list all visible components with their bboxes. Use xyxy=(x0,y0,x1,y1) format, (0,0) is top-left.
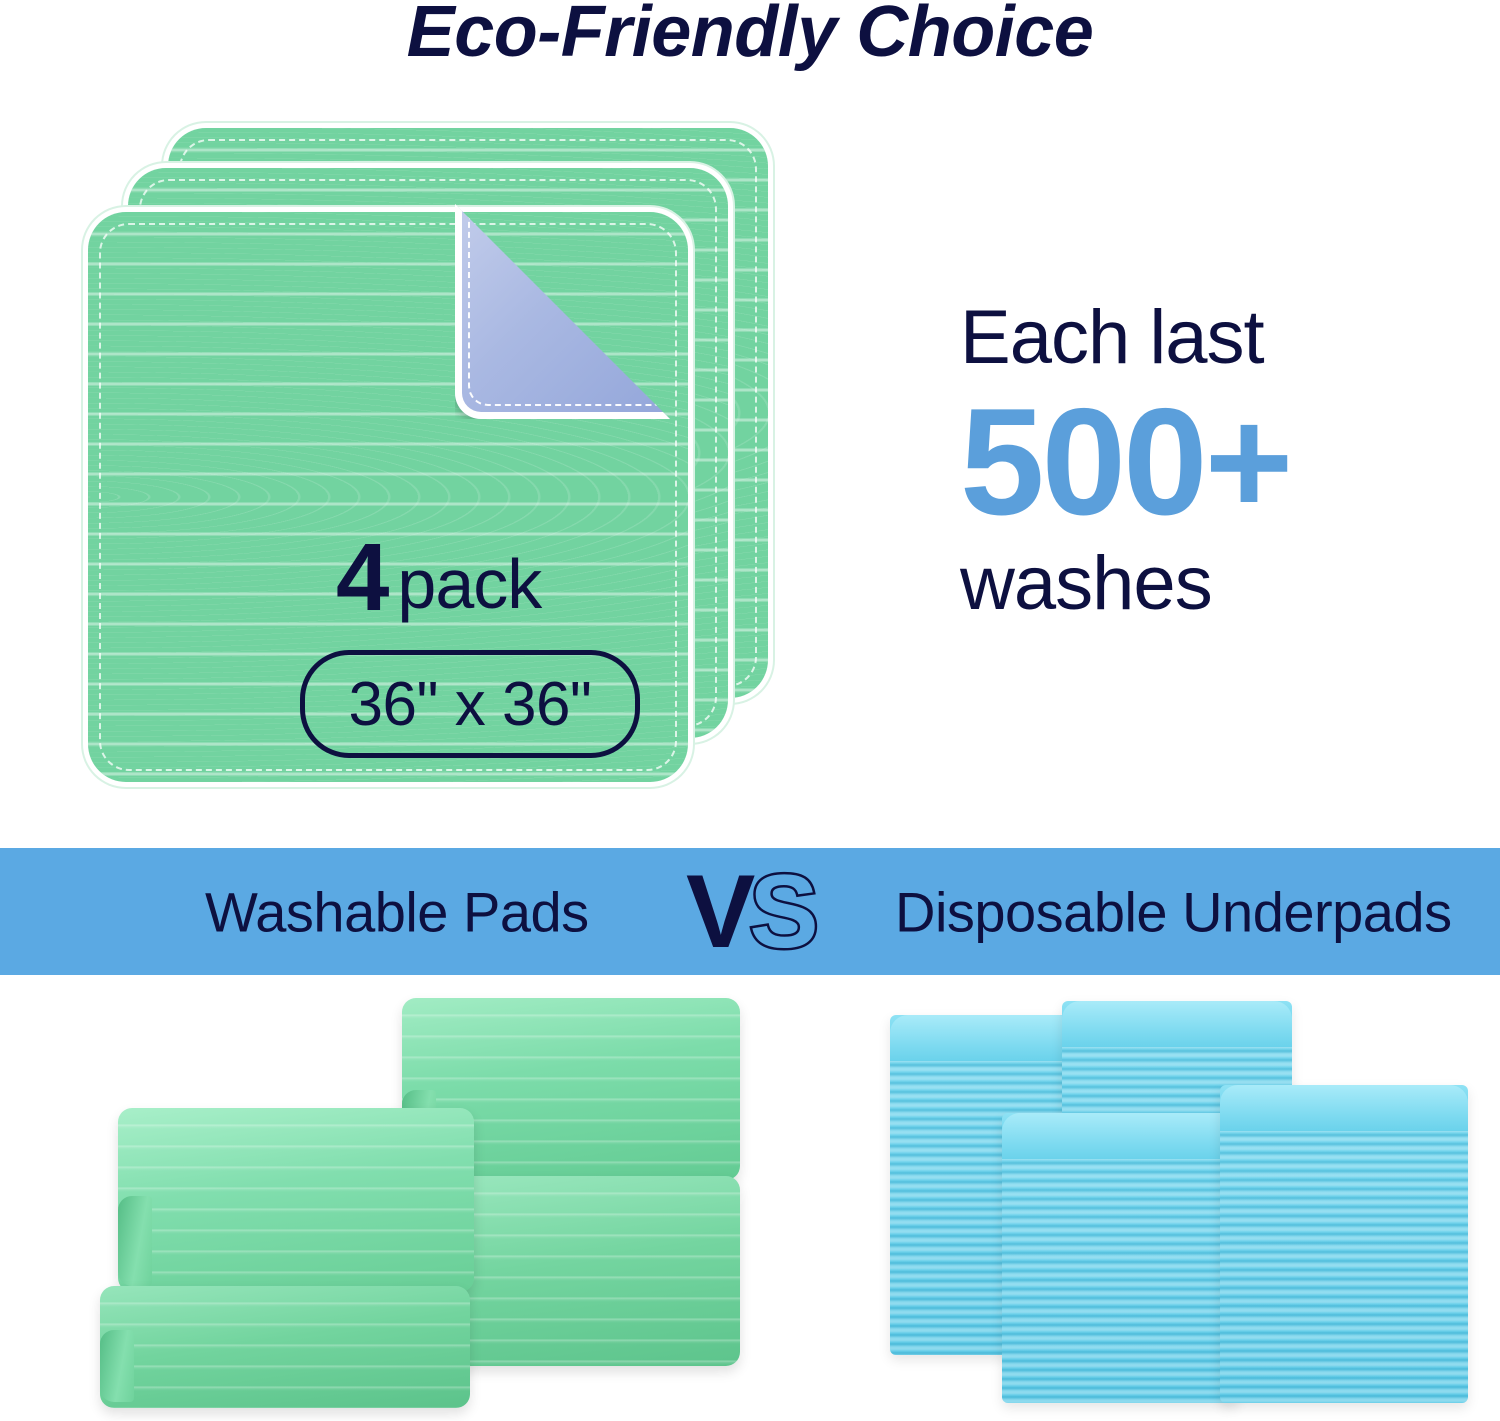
flap-stitch-line xyxy=(468,217,657,406)
versus-letter-v: V xyxy=(686,854,749,970)
versus-mark: VS xyxy=(686,860,813,964)
folded-washable-pads-image xyxy=(100,990,740,1410)
comparison-label-washable: Washable Pads xyxy=(205,879,589,944)
comparison-label-disposable: Disposable Underpads xyxy=(895,879,1452,944)
claim-wash-count: 500+ xyxy=(960,386,1400,538)
durability-claim: Each last 500+ washes xyxy=(960,300,1400,622)
folded-pad xyxy=(118,1108,474,1292)
pack-count-label: 4pack xyxy=(336,530,541,626)
size-badge: 36" x 36" xyxy=(300,650,640,758)
size-badge-label: 36" x 36" xyxy=(349,669,592,740)
folded-pad-edge xyxy=(100,1330,134,1402)
folded-corner-flap xyxy=(455,204,670,419)
versus-letter-s: S xyxy=(749,854,812,970)
comparison-band: Washable Pads VS Disposable Underpads xyxy=(0,848,1500,975)
underpad-stack xyxy=(1002,1113,1238,1403)
underpad-stack xyxy=(1220,1085,1468,1403)
claim-line-2: washes xyxy=(960,546,1400,622)
disposable-underpads-image xyxy=(890,985,1470,1410)
claim-line-1: Each last xyxy=(960,300,1400,376)
comparison-photos xyxy=(0,975,1500,1421)
folded-pad xyxy=(100,1286,470,1408)
folded-pad-edge xyxy=(118,1196,152,1286)
pack-count-number: 4 xyxy=(336,524,387,631)
pack-count-word: pack xyxy=(397,545,541,623)
comparison-band-inner: Washable Pads VS Disposable Underpads xyxy=(0,848,1500,975)
washable-pad-stack-image: 4pack 36" x 36" xyxy=(88,128,768,788)
hero-section: 4pack 36" x 36" Each last 500+ washes xyxy=(0,0,1500,848)
